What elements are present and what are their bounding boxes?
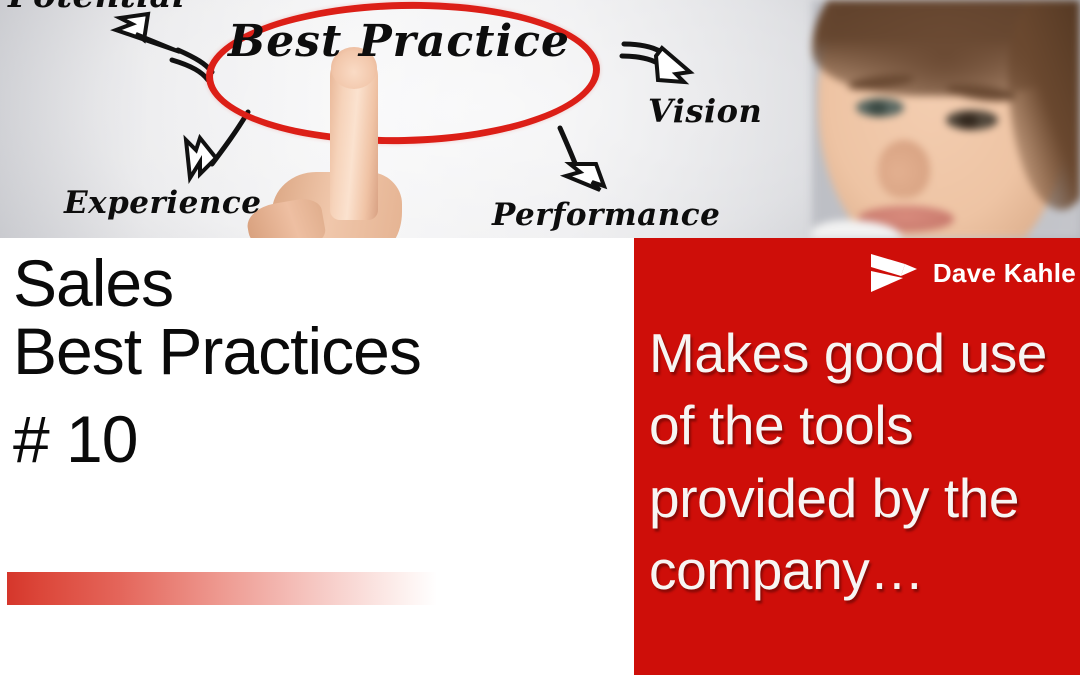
diagram-word-vision: Vision: [648, 92, 762, 130]
accent-bar: [7, 572, 437, 605]
page-title: Sales Best Practices # 10: [13, 250, 613, 474]
title-line-number: # 10: [13, 406, 613, 474]
title-line-sales: Sales: [13, 250, 613, 318]
slide-canvas: Potential Best Practice Vision Experienc…: [0, 0, 1080, 675]
brand-lockup: Dave Kahle: [869, 252, 1076, 294]
quote-line-2: of the tools: [649, 389, 1080, 461]
diagram-word-best-practice: Best Practice: [228, 16, 570, 67]
title-panel: Sales Best Practices # 10: [0, 238, 634, 675]
title-line-best-practices: Best Practices: [13, 318, 613, 386]
diagram-word-experience: Experience: [64, 185, 261, 221]
quote-panel: Dave Kahle Makes good use of the tools p…: [634, 238, 1080, 675]
quote-line-1: Makes good use: [649, 317, 1080, 389]
brand-name-label: Dave Kahle: [933, 258, 1076, 289]
quote-line-4: company…: [649, 534, 1080, 606]
diagram-word-performance: Performance: [492, 197, 720, 233]
presenter-face: [812, 0, 1080, 238]
quote-line-3: provided by the: [649, 462, 1080, 534]
diagram-word-potential: Potential: [8, 0, 185, 16]
chevron-logo-icon: [869, 252, 921, 294]
header-photo-banner: Potential Best Practice Vision Experienc…: [0, 0, 1080, 238]
quote-text: Makes good use of the tools provided by …: [649, 317, 1080, 606]
